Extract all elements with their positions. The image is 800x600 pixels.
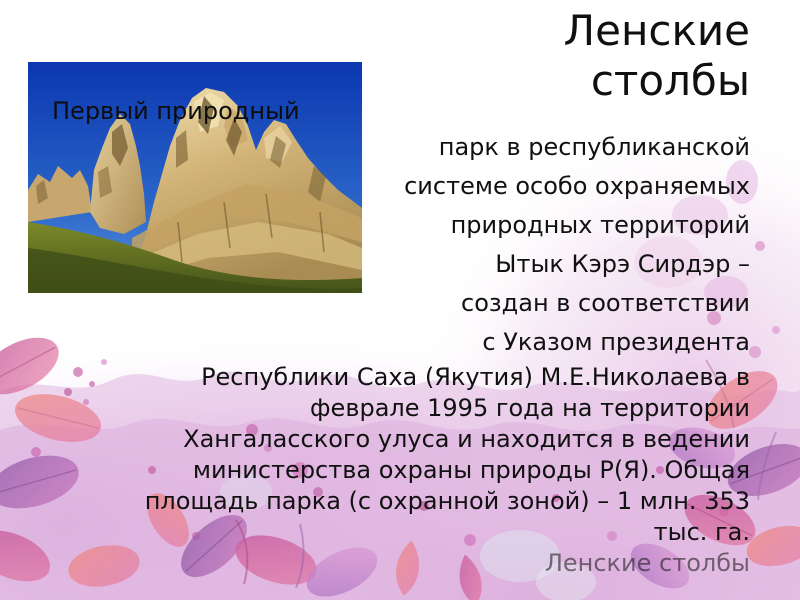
title-line-1: Ленские bbox=[330, 6, 750, 56]
body-line-5: создан в соответствии bbox=[60, 284, 750, 323]
presentation-slide: Первый природный Ленские столбы парк в р… bbox=[0, 0, 800, 600]
body-line-12: тыс. га. bbox=[60, 517, 750, 548]
body-line-2: системе особо охраняемых bbox=[60, 167, 750, 206]
title-line-2: столбы bbox=[330, 56, 750, 106]
body-line-3: природных территорий bbox=[60, 206, 750, 245]
body-line-11: площадь парка (с охранной зоной) – 1 млн… bbox=[60, 486, 750, 517]
page-title: Ленские столбы bbox=[330, 6, 750, 106]
body-line-1: парк в республиканской bbox=[60, 128, 750, 167]
body-text: парк в республиканской системе особо охр… bbox=[60, 128, 750, 579]
body-line-7: Республики Саха (Якутия) М.Е.Николаева в bbox=[60, 362, 750, 393]
body-line-8: феврале 1995 года на территории bbox=[60, 393, 750, 424]
body-line-4: Ытык Кэрэ Сирдэр – bbox=[60, 245, 750, 284]
body-line-clipped: Ленские столбы bbox=[60, 548, 750, 579]
body-line-9: Хангаласского улуса и находится в ведени… bbox=[60, 424, 750, 455]
body-line-10: министерства охраны природы Р(Я). Общая bbox=[60, 455, 750, 486]
body-line-6: с Указом президента bbox=[60, 323, 750, 362]
